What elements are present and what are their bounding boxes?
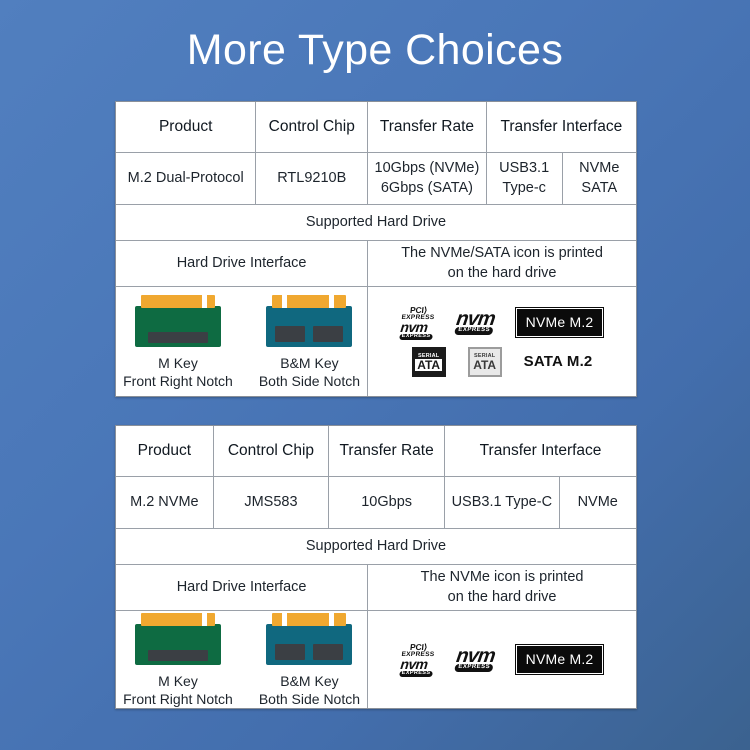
drive-bm-key-label: B&M Key Both Side Notch (259, 354, 360, 390)
drive-m-key-type: M Key (123, 672, 233, 690)
cell-control-chip: RTL9210B (255, 153, 367, 204)
graphics-row: M Key Front Right Notch B&M Key (116, 610, 636, 708)
m-key-ssd-icon (135, 613, 221, 665)
nvm-express-word: nvm (455, 647, 496, 665)
drive-m-key-notch: Front Right Notch (123, 690, 233, 708)
spec-table-nvme: Product Control Chip Transfer Rate Trans… (115, 425, 637, 709)
cell-product: M.2 Dual-Protocol (116, 153, 255, 204)
icon-note-line-1: The NVMe/SATA icon is printed (401, 244, 603, 263)
serial-ata-dark-icon: SERIAL ATA (412, 347, 446, 377)
drive-bm-key-label: B&M Key Both Side Notch (259, 672, 360, 708)
icon-note-line-2: on the hard drive (448, 264, 557, 283)
cell-transfer-rate: 10Gbps (328, 477, 444, 528)
bm-key-ssd-icon (266, 613, 352, 665)
interface-protocol-line-1: NVMe (579, 159, 619, 178)
table-data-row: M.2 Dual-Protocol RTL9210B 10Gbps (NVMe)… (116, 152, 636, 204)
nvme-m2-badge: NVMe M.2 (516, 308, 604, 336)
protocol-logos: PCI⟩ EXPRESS nvm EXPRESS nvm EXPRESS NVM… (367, 611, 636, 708)
supported-hard-drive-band: Supported Hard Drive (116, 528, 636, 564)
header-transfer-rate: Transfer Rate (367, 102, 486, 152)
nvm-express-sub: EXPRESS (454, 327, 493, 335)
sub-header-hard-drive-interface: Hard Drive Interface (116, 565, 367, 610)
sub-header-icon-note: The NVMe icon is printed on the hard dri… (367, 565, 636, 610)
drive-bm-key-notch: Both Side Notch (259, 372, 360, 390)
icon-note-line-2: on the hard drive (448, 588, 557, 607)
header-control-chip: Control Chip (255, 102, 367, 152)
sub-header-icon-note: The NVMe/SATA icon is printed on the har… (367, 241, 636, 286)
table-header-row: Product Control Chip Transfer Rate Trans… (116, 102, 636, 152)
pcie-nvm-word: nvm (400, 321, 428, 334)
supported-hard-drive-label: Supported Hard Drive (116, 205, 636, 240)
header-transfer-interface: Transfer Interface (444, 426, 636, 476)
pcie-nvm-word: nvm (400, 658, 428, 671)
table-header-row: Product Control Chip Transfer Rate Trans… (116, 426, 636, 476)
transfer-rate-line-2: 6Gbps (SATA) (381, 179, 473, 198)
serial-ata-light-main: ATA (473, 359, 496, 371)
cell-control-chip: JMS583 (213, 477, 328, 528)
header-transfer-rate: Transfer Rate (328, 426, 444, 476)
table-data-row: M.2 NVMe JMS583 10Gbps USB3.1 Type-C NVM… (116, 476, 636, 528)
drive-m-key-label: M Key Front Right Notch (123, 672, 233, 708)
pcie-nvm-sub: EXPRESS (399, 334, 432, 340)
drive-illustrations: M Key Front Right Notch B&M Key (116, 287, 367, 396)
sub-header-hard-drive-interface: Hard Drive Interface (116, 241, 367, 286)
cell-transfer-rate: 10Gbps (NVMe) 6Gbps (SATA) (367, 153, 486, 204)
pci-express-nvm-express-icon: PCI⟩ EXPRESS nvm EXPRESS (399, 306, 435, 340)
serial-ata-dark-main: ATA (415, 359, 442, 371)
supported-hard-drive-label: Supported Hard Drive (116, 529, 636, 564)
header-control-chip: Control Chip (213, 426, 328, 476)
sata-m2-label: SATA M.2 (524, 352, 593, 372)
page-title: More Type Choices (0, 26, 750, 75)
sub-header-row: Hard Drive Interface The NVMe/SATA icon … (116, 240, 636, 286)
pci-express-nvm-express-icon: PCI⟩ EXPRESS nvm EXPRESS (399, 643, 435, 677)
drive-m-key: M Key Front Right Notch (123, 295, 233, 390)
header-product: Product (116, 426, 213, 476)
nvm-express-sub: EXPRESS (454, 664, 493, 672)
interface-protocol-line-2: SATA (581, 179, 617, 198)
nvme-m2-badge: NVMe M.2 (516, 645, 604, 673)
supported-hard-drive-band: Supported Hard Drive (116, 204, 636, 240)
nvm-express-icon: nvm EXPRESS (454, 310, 496, 335)
drive-m-key-notch: Front Right Notch (123, 372, 233, 390)
drive-bm-key-type: B&M Key (259, 354, 360, 372)
drive-bm-key-type: B&M Key (259, 672, 360, 690)
cell-interface-usb: USB3.1 Type-C (444, 477, 558, 528)
interface-usb-line-1: USB3.1 (499, 159, 549, 178)
m-key-ssd-icon (135, 295, 221, 347)
drive-illustrations: M Key Front Right Notch B&M Key (116, 611, 367, 708)
drive-m-key: M Key Front Right Notch (123, 613, 233, 708)
serial-ata-light-icon: SERIAL ATA (468, 347, 502, 377)
header-transfer-interface: Transfer Interface (486, 102, 636, 152)
nvm-express-word: nvm (455, 310, 496, 328)
sata-logo-row: SERIAL ATA SERIAL ATA SATA M.2 (374, 347, 630, 377)
nvm-express-icon: nvm EXPRESS (454, 647, 496, 672)
infographic-page: More Type Choices Product Control Chip T… (0, 0, 750, 750)
cell-interface-usb: USB3.1 Type-c (486, 153, 562, 204)
cell-interface-protocol: NVMe (559, 477, 636, 528)
bm-key-ssd-icon (266, 295, 352, 347)
drive-m-key-label: M Key Front Right Notch (123, 354, 233, 390)
cell-interface-protocol: NVMe SATA (562, 153, 636, 204)
interface-usb-line-2: Type-c (502, 179, 546, 198)
icon-note-line-1: The NVMe icon is printed (421, 568, 584, 587)
spec-table-dual-protocol: Product Control Chip Transfer Rate Trans… (115, 101, 637, 397)
graphics-row: M Key Front Right Notch B&M Key (116, 286, 636, 396)
transfer-rate-line-1: 10Gbps (NVMe) (375, 159, 480, 178)
protocol-logos: PCI⟩ EXPRESS nvm EXPRESS nvm EXPRESS NVM… (367, 287, 636, 396)
header-product: Product (116, 102, 255, 152)
drive-bm-key-notch: Both Side Notch (259, 690, 360, 708)
drive-m-key-type: M Key (123, 354, 233, 372)
pcie-nvm-sub: EXPRESS (399, 671, 432, 677)
nvme-logo-row: PCI⟩ EXPRESS nvm EXPRESS nvm EXPRESS NVM… (374, 643, 630, 677)
drive-bm-key: B&M Key Both Side Notch (259, 613, 360, 708)
nvme-logo-row: PCI⟩ EXPRESS nvm EXPRESS nvm EXPRESS NVM… (374, 306, 630, 340)
cell-product: M.2 NVMe (116, 477, 213, 528)
sub-header-row: Hard Drive Interface The NVMe icon is pr… (116, 564, 636, 610)
drive-bm-key: B&M Key Both Side Notch (259, 295, 360, 390)
